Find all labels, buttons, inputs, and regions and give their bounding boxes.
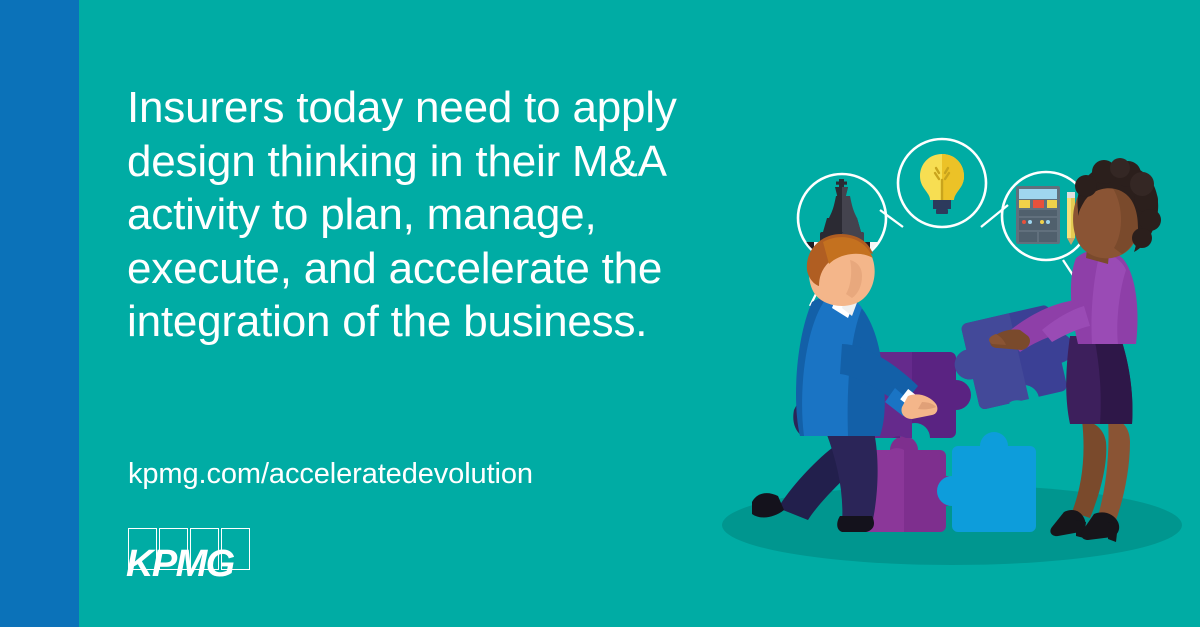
planning-board-icon bbox=[1016, 186, 1075, 245]
node-idea bbox=[898, 139, 986, 227]
lightbulb-icon bbox=[920, 154, 964, 214]
page-title: Insurers today need to apply design thin… bbox=[127, 81, 767, 349]
left-accent-bar bbox=[0, 0, 79, 627]
kpmg-logo[interactable]: KPMG bbox=[128, 528, 250, 584]
kpmg-wordmark: KPMG bbox=[126, 545, 234, 583]
social-card: Insurers today need to apply design thin… bbox=[0, 0, 1200, 627]
kpmg-url[interactable]: kpmg.com/acceleratedevolution bbox=[128, 457, 533, 491]
puzzle-illustration bbox=[690, 130, 1200, 627]
